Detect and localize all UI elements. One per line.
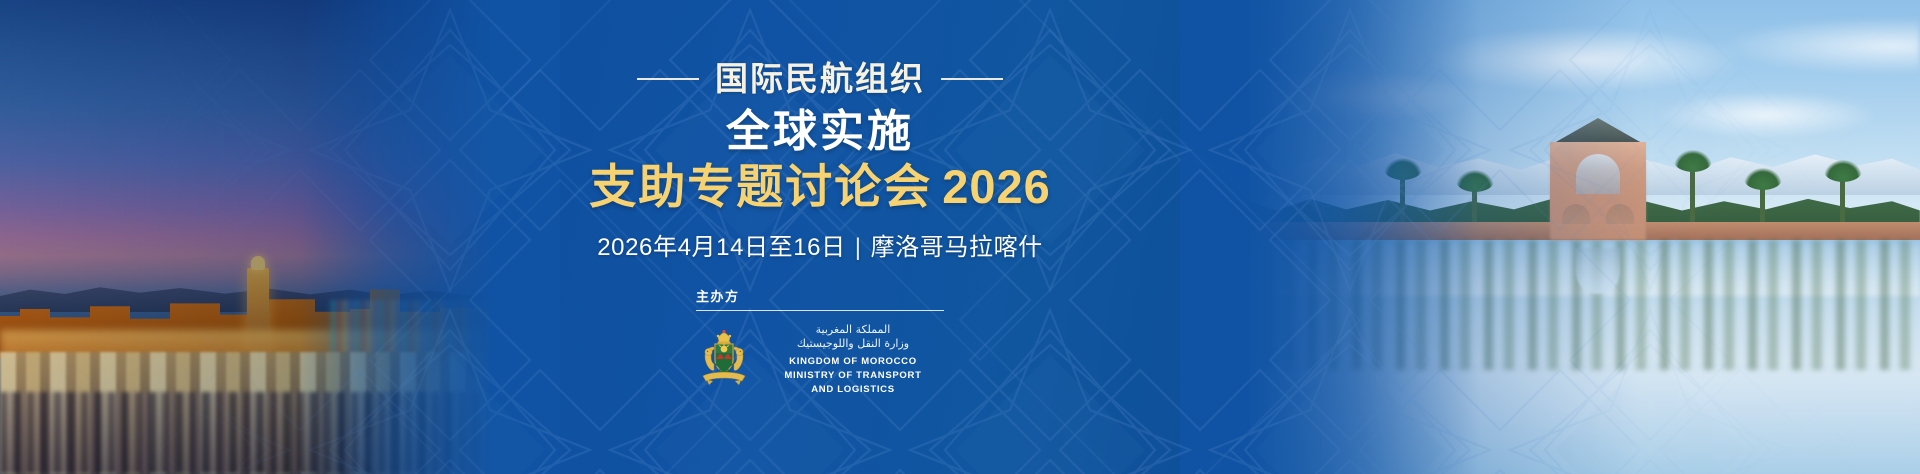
kicker-icao: 国际民航组织 — [637, 62, 1003, 95]
title-line-1: 全球实施 — [726, 109, 914, 156]
arabic-kingdom-line: المملكة المغربية — [762, 323, 944, 337]
organizer-divider — [696, 310, 944, 311]
left-blend-gradient — [300, 0, 560, 474]
date-location-line: 2026年4月14日至16日|摩洛哥马拉喀什 — [597, 227, 1043, 262]
event-location: 摩洛哥马拉喀什 — [871, 234, 1043, 261]
english-line-3: AND LOGISTICS — [762, 383, 944, 397]
title-line-2: 支助专题讨论会2026 — [589, 162, 1051, 212]
kicker-rule-left — [637, 78, 699, 80]
event-banner: 国际民航组织 全球实施 支助专题讨论会2026 2026年4月14日至16日|摩… — [0, 0, 1920, 474]
english-ministry-lines: KINGDOM OF MOROCCO MINISTRY OF TRANSPORT… — [762, 355, 944, 396]
english-line-1: KINGDOM OF MOROCCO — [762, 355, 944, 369]
event-year: 2026 — [942, 160, 1051, 213]
event-date: 2026年4月14日至16日 — [597, 234, 846, 261]
kicker-text: 国际民航组织 — [715, 62, 925, 95]
ministry-lockup: المملكة المغربية وزارة النقل واللوجيستيك… — [696, 321, 944, 396]
banner-content: 国际民航组织 全球实施 支助专题讨论会2026 2026年4月14日至16日|摩… — [560, 0, 1080, 474]
organizer-label: 主办方 — [696, 290, 740, 303]
kicker-rule-right — [941, 78, 1003, 80]
english-line-2: MINISTRY OF TRANSPORT — [762, 369, 944, 383]
title-line-2-text: 支助专题讨论会 — [589, 160, 932, 213]
right-blend-gradient — [1180, 0, 1480, 474]
morocco-coat-of-arms-icon — [696, 330, 752, 388]
ministry-text: المملكة المغربية وزارة النقل واللوجيستيك… — [762, 321, 944, 396]
arabic-ministry-line: وزارة النقل واللوجيستيك — [762, 337, 944, 352]
date-location-separator: | — [855, 234, 862, 261]
organizer-block: 主办方 — [696, 290, 944, 396]
